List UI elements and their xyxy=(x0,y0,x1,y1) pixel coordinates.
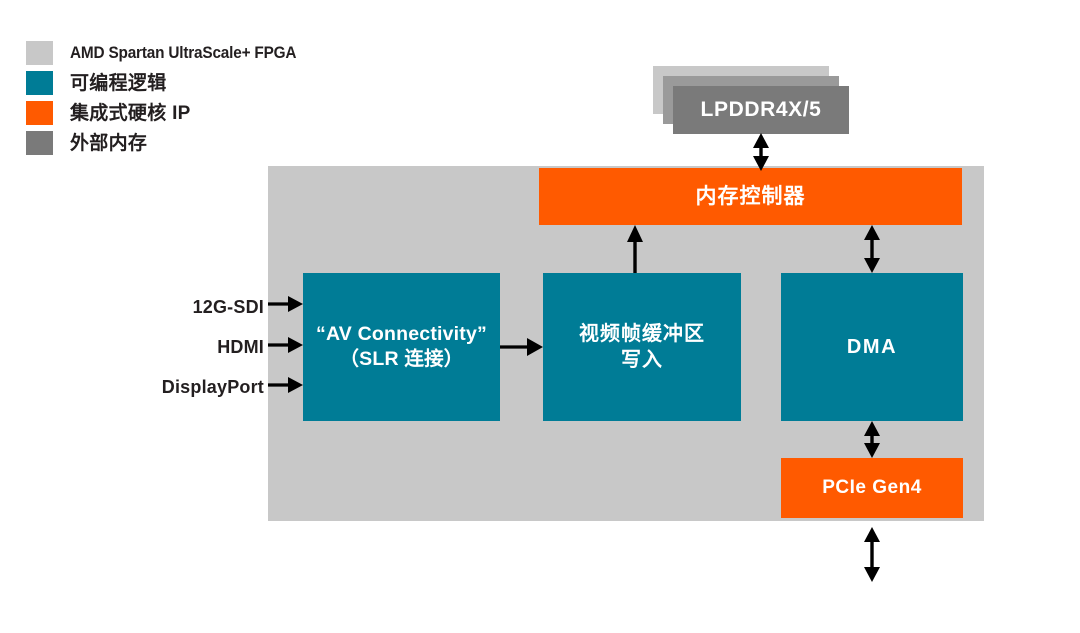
legend-swatch-fpga-icon xyxy=(26,41,53,65)
video-frame-buffer-write-block: 视频帧缓冲区 写入 xyxy=(543,273,741,421)
legend-label-external-memory: 外部内存 xyxy=(70,134,147,153)
diagram-canvas: AMD Spartan UltraScale+ FPGA 可编程逻辑 集成式硬核… xyxy=(0,0,1080,633)
frame-buffer-line-2: 写入 xyxy=(579,347,705,373)
port-label-displayport: DisplayPort xyxy=(162,378,264,396)
legend-swatch-external-memory-icon xyxy=(26,131,53,155)
av-connectivity-line-1: “AV Connectivity” xyxy=(316,322,487,347)
frame-buffer-line-1: 视频帧缓冲区 xyxy=(579,321,705,347)
legend-item-external-memory: 外部内存 xyxy=(26,128,313,158)
dma-block: DMA xyxy=(781,273,963,421)
av-connectivity-line-2: （SLR 连接） xyxy=(316,347,487,372)
av-connectivity-block: “AV Connectivity” （SLR 连接） xyxy=(303,273,500,421)
legend-label-hard-ip: 集成式硬核 IP xyxy=(70,104,191,123)
legend-label-fpga: AMD Spartan UltraScale+ FPGA xyxy=(70,45,296,62)
legend-swatch-hard-ip-icon xyxy=(26,101,53,125)
legend-item-hard-ip: 集成式硬核 IP xyxy=(26,98,313,128)
arrow-pcie-to-host xyxy=(864,527,880,582)
lpddr-memory-block: LPDDR4X/5 xyxy=(673,86,849,134)
memory-controller-block: 内存控制器 xyxy=(539,168,962,225)
pcie-gen4-block: PCIe Gen4 xyxy=(781,458,963,518)
legend-item-fpga: AMD Spartan UltraScale+ FPGA xyxy=(26,38,313,68)
legend-item-programmable-logic: 可编程逻辑 xyxy=(26,68,313,98)
legend-swatch-programmable-logic-icon xyxy=(26,71,53,95)
port-label-12g-sdi: 12G-SDI xyxy=(193,298,264,316)
port-label-hdmi: HDMI xyxy=(217,338,264,356)
legend: AMD Spartan UltraScale+ FPGA 可编程逻辑 集成式硬核… xyxy=(26,38,313,158)
legend-label-programmable-logic: 可编程逻辑 xyxy=(70,74,167,93)
